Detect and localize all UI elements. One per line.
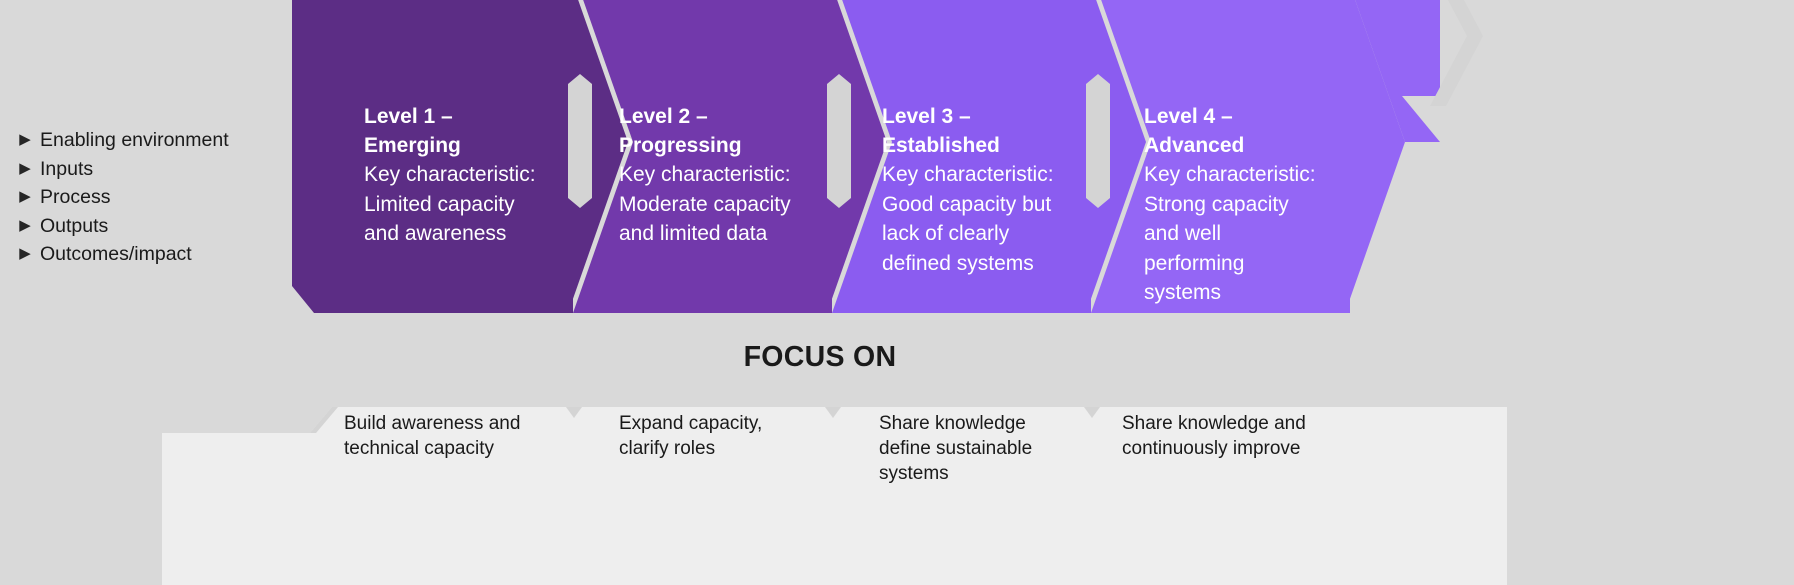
triangle-right-icon: ▶ bbox=[10, 126, 40, 155]
focus-on-heading: FOCUS ON bbox=[0, 341, 1640, 374]
focus-on-band: Build awareness and technical capacity E… bbox=[162, 393, 1507, 585]
level-3-text-block: Level 3 – Established Key characteristic… bbox=[882, 103, 1087, 278]
level-3-title: Level 3 – Established bbox=[882, 103, 1087, 160]
level-1-body: Key characteristic: Limited capacity and… bbox=[364, 160, 572, 249]
triangle-right-icon: ▶ bbox=[10, 155, 40, 184]
level-1-text-block: Level 1 – Emerging Key characteristic: L… bbox=[364, 103, 572, 249]
list-item-label: Process bbox=[40, 183, 110, 212]
separator-notch-3 bbox=[1086, 74, 1110, 208]
level-4-title: Level 4 – Advanced bbox=[1144, 103, 1344, 160]
triangle-right-icon: ▶ bbox=[10, 240, 40, 269]
list-item-label: Outcomes/impact bbox=[40, 240, 192, 269]
top-right-corner-notch bbox=[1400, 0, 1700, 106]
list-item-label: Enabling environment bbox=[40, 126, 229, 155]
list-item: ▶ Inputs bbox=[10, 155, 285, 184]
focus-item-2: Expand capacity, clarify roles bbox=[619, 411, 829, 461]
level-2-title: Level 2 – Progressing bbox=[619, 103, 831, 160]
triangle-right-icon: ▶ bbox=[10, 183, 40, 212]
list-item: ▶ Outputs bbox=[10, 212, 285, 241]
focus-item-4: Share knowledge and continuously improve bbox=[1122, 411, 1342, 461]
triangle-right-icon: ▶ bbox=[10, 212, 40, 241]
dimension-list: ▶ Enabling environment ▶ Inputs ▶ Proces… bbox=[10, 126, 285, 269]
maturity-model-diagram: ▶ Enabling environment ▶ Inputs ▶ Proces… bbox=[0, 0, 1794, 585]
focus-item-3: Share knowledge define sustainable syste… bbox=[879, 411, 1084, 486]
level-2-body: Key characteristic: Moderate capacity an… bbox=[619, 160, 831, 249]
list-item-label: Outputs bbox=[40, 212, 108, 241]
list-item-label: Inputs bbox=[40, 155, 93, 184]
list-item: ▶ Outcomes/impact bbox=[10, 240, 285, 269]
level-1-title: Level 1 – Emerging bbox=[364, 103, 572, 160]
list-item: ▶ Enabling environment bbox=[10, 126, 285, 155]
focus-item-1: Build awareness and technical capacity bbox=[344, 411, 569, 461]
level-4-text-block: Level 4 – Advanced Key characteristic: S… bbox=[1144, 103, 1344, 308]
list-item: ▶ Process bbox=[10, 183, 285, 212]
level-3-body: Key characteristic: Good capacity but la… bbox=[882, 160, 1087, 278]
level-4-body: Key characteristic: Strong capacity and … bbox=[1144, 160, 1344, 308]
level-2-text-block: Level 2 – Progressing Key characteristic… bbox=[619, 103, 831, 249]
